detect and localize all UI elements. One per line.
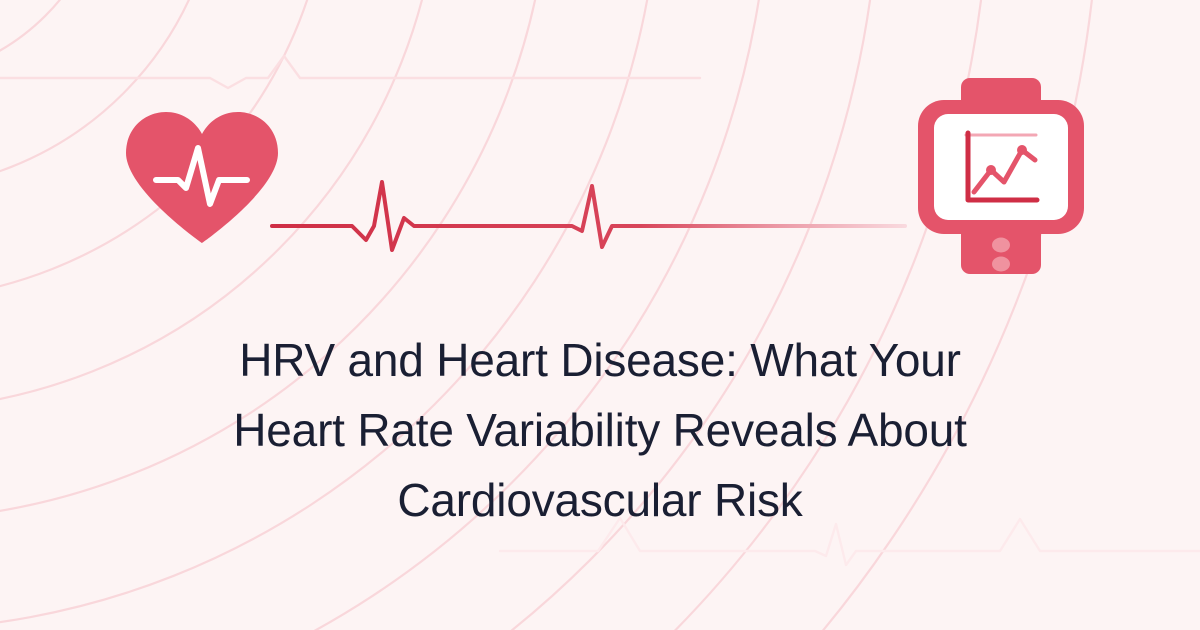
page-title-line-2: Heart Rate Variability Reveals About xyxy=(0,395,1200,465)
page-title-line-3: Cardiovascular Risk xyxy=(0,465,1200,535)
watch-band-dot-lower xyxy=(992,257,1010,272)
chart-point-1 xyxy=(986,165,996,175)
heart-with-pulse-icon xyxy=(126,112,278,243)
watch-screen xyxy=(934,114,1068,220)
ecg-pulse-line xyxy=(272,182,905,250)
page-title-line-1: HRV and Heart Disease: What Your xyxy=(0,325,1200,395)
og-image-canvas: HRV and Heart Disease: What Your Heart R… xyxy=(0,0,1200,630)
chart-point-2 xyxy=(1017,145,1027,155)
page-title: HRV and Heart Disease: What Your Heart R… xyxy=(0,325,1200,535)
smartwatch-icon xyxy=(918,78,1084,274)
hero-artwork xyxy=(0,0,1200,630)
watch-band-dot-upper xyxy=(992,238,1010,253)
